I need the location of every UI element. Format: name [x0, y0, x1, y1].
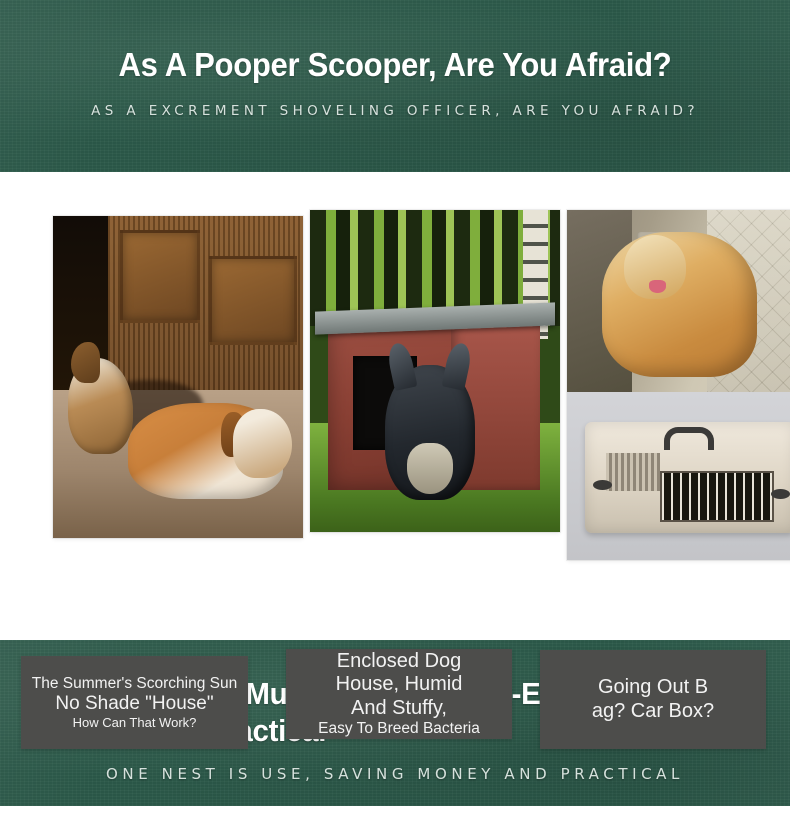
caption-line: Enclosed Dog: [286, 650, 512, 673]
photo-dog-in-kennel: [310, 210, 560, 532]
caption-line: Easy To Breed Bacteria: [286, 720, 512, 738]
top-subline: AS A EXCREMENT SHOVELING OFFICER, ARE YO…: [0, 85, 790, 119]
dog-tongue: [649, 280, 666, 293]
car-interior-background: [567, 210, 790, 392]
carrier-latch-left: [593, 480, 612, 490]
carrier-wire-door: [660, 471, 773, 522]
golden-retriever: [602, 232, 757, 378]
caption-line: No Shade "House": [21, 693, 248, 715]
caption-line: The Summer's Scorching Sun: [21, 675, 248, 693]
carrier-handle: [664, 427, 714, 451]
photo-card-2[interactable]: [310, 210, 560, 532]
caption-line: ag? Car Box?: [540, 700, 766, 723]
photo-pet-carrier: [567, 392, 790, 560]
photo-card-1[interactable]: [53, 216, 303, 538]
carrier-air-vents: [606, 453, 661, 491]
top-banner: As A Pooper Scooper, Are You Afraid? AS …: [0, 0, 790, 172]
caption-box-1: The Summer's Scorching Sun No Shade "Hou…: [21, 656, 248, 749]
husky-dog: [385, 365, 475, 500]
dog-muzzle: [407, 443, 454, 494]
caption-line: Going Out B: [540, 676, 766, 699]
dog-lying: [128, 403, 283, 500]
caption-box-3: Going Out B ag? Car Box?: [540, 650, 766, 749]
bottom-subline: ONE NEST IS USE, SAVING MONEY AND PRACTI…: [0, 749, 790, 783]
photo-card-3[interactable]: [567, 210, 790, 560]
kennel-scene-background: [310, 210, 560, 532]
carrier-background: [567, 392, 790, 560]
wooden-door-background: [53, 216, 303, 538]
door-panels: [108, 216, 303, 396]
carrier-latch-right: [771, 489, 790, 499]
caption-box-2: Enclosed Dog House, Humid And Stuffy, Ea…: [286, 649, 512, 739]
caption-line: How Can That Work?: [21, 715, 248, 730]
photo-dog-in-car: [567, 210, 790, 392]
pet-carrier-body: [585, 422, 790, 533]
caption-line: House, Humid: [286, 673, 512, 696]
photo-card-strip: The Summer's Scorching Sun No Shade "Hou…: [0, 172, 790, 640]
top-headline: As A Pooper Scooper, Are You Afraid?: [24, 0, 767, 85]
photo-dogs-on-step: [53, 216, 303, 538]
caption-line: And Stuffy,: [286, 697, 512, 720]
dog-ear: [221, 412, 246, 456]
